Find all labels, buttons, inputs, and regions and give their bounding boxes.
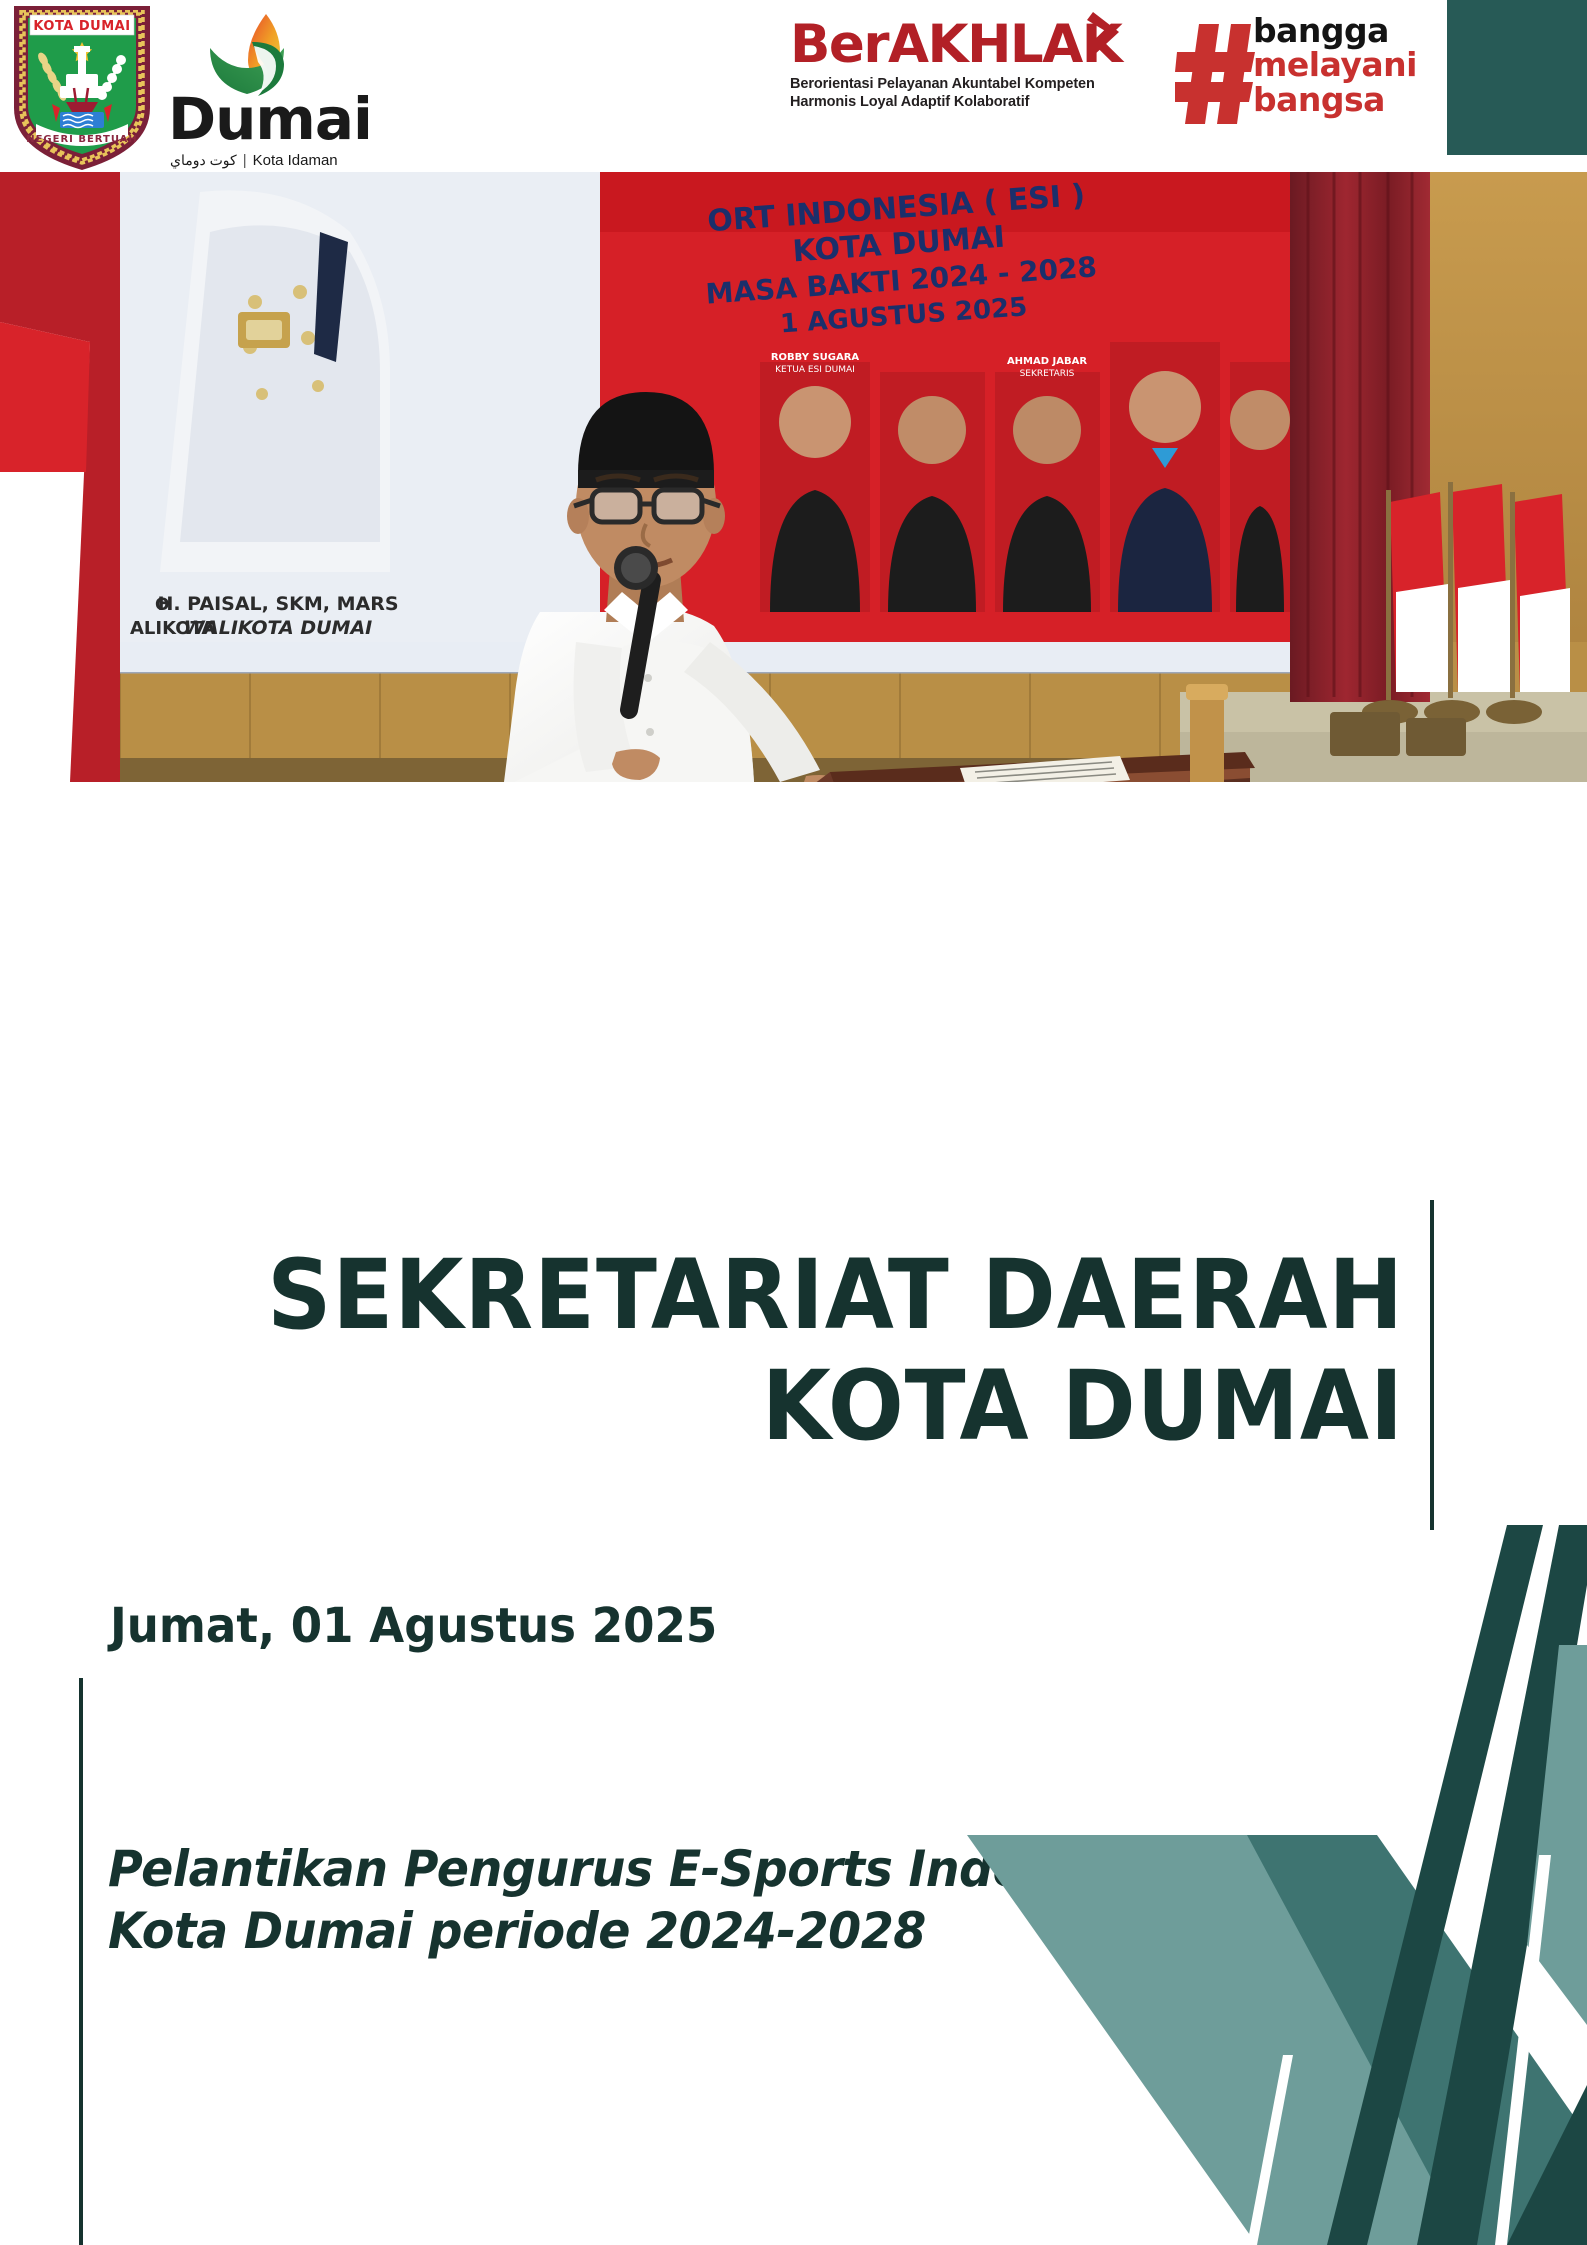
berakhlak-word-text: BerAKHLAK — [790, 14, 1121, 75]
hashtag-icon — [1175, 22, 1257, 126]
title-line-2: KOTA DUMAI — [98, 1351, 1404, 1462]
dumai-tagline: Kota Idaman — [253, 152, 338, 169]
svg-text:H. PAISAL, SKM, MARS: H. PAISAL, SKM, MARS — [157, 593, 398, 615]
title-line-1: SEKRETARIAT DAERAH — [98, 1240, 1404, 1351]
svg-text:SEKRETARIS: SEKRETARIS — [1020, 369, 1075, 379]
event-photo: H. PAISAL, SKM, MARS WALIKOTA DUMAI O AL… — [0, 172, 1587, 782]
berakhlak-tagline-line2: Harmonis Loyal Adaptif Kolaboratif — [790, 94, 1120, 112]
header-bar: KOTA DUMAI — [0, 0, 1587, 172]
dumai-tagline-separator: | — [243, 152, 247, 169]
header-accent-block — [1447, 0, 1587, 155]
svg-text:O: O — [155, 595, 169, 615]
svg-text:NEGERI BERTUAH: NEGERI BERTUAH — [26, 134, 138, 145]
event-description: Pelantikan Pengurus E-Sports Indonesia K… — [108, 1838, 1229, 1962]
berakhlak-tagline: Berorientasi Pelayanan Akuntabel Kompete… — [790, 76, 1120, 112]
dumai-wordmark: Dumai — [168, 90, 348, 148]
title-vertical-rule — [1430, 1200, 1434, 1530]
berakhlak-logo: BerAKHLAK Berorientasi Pelayanan Akuntab… — [790, 18, 1120, 112]
berakhlak-chevron-icon — [1085, 10, 1127, 66]
poster-page: KOTA DUMAI — [0, 0, 1587, 2245]
bangga-melayani-bangsa-logo: bangga melayani bangsa — [1175, 8, 1465, 138]
dumai-arabic-text: كوت دوماي — [170, 152, 237, 169]
svg-text:ROBBY SUGARA: ROBBY SUGARA — [771, 352, 860, 363]
description-vertical-rule — [79, 1678, 83, 2245]
svg-text:ALIKOTA: ALIKOTA — [130, 618, 215, 639]
berakhlak-tagline-line1: Berorientasi Pelayanan Akuntabel Kompete… — [790, 76, 1120, 94]
kota-dumai-coat-of-arms: KOTA DUMAI — [8, 4, 156, 170]
bmb-text-lines: bangga melayani bangsa — [1253, 14, 1417, 117]
svg-text:KETUA ESI DUMAI: KETUA ESI DUMAI — [775, 365, 855, 375]
svg-text:KOTA DUMAI: KOTA DUMAI — [33, 19, 130, 34]
bmb-line-bangsa: bangsa — [1253, 83, 1417, 117]
event-date: Jumat, 01 Agustus 2025 — [110, 1598, 717, 1654]
bmb-line-bangga: bangga — [1253, 14, 1417, 48]
description-line-2: Kota Dumai periode 2024-2028 — [108, 1900, 1229, 1962]
description-line-1: Pelantikan Pengurus E-Sports Indonesia — [108, 1838, 1229, 1900]
dumai-tagline-row: كوت دوماي | Kota Idaman — [170, 152, 350, 169]
bmb-line-melayani: melayani — [1253, 48, 1417, 82]
dumai-city-logo: Dumai كوت دوماي | Kota Idaman — [168, 12, 348, 167]
page-title: SEKRETARIAT DAERAH KOTA DUMAI — [0, 1240, 1430, 1463]
berakhlak-wordmark: BerAKHLAK — [790, 18, 1120, 71]
svg-text:AHMAD JABAR: AHMAD JABAR — [1007, 356, 1087, 367]
